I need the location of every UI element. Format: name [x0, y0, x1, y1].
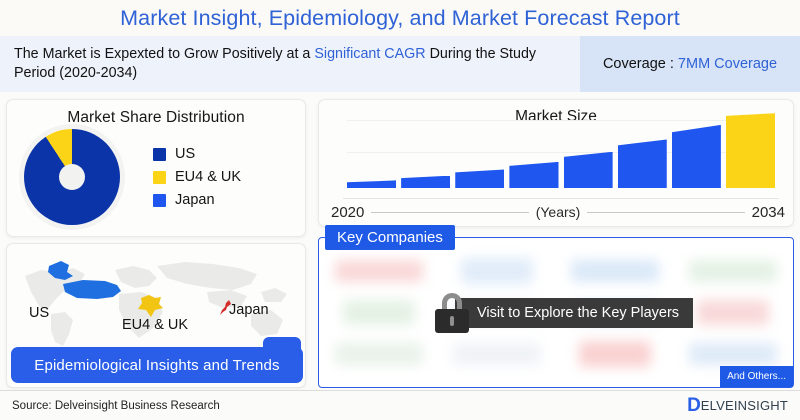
explore-key-players-label: Visit to Explore the Key Players: [477, 305, 679, 321]
company-logo: [335, 343, 423, 365]
market-share-card: Market Share Distribution USEU4 & UKJapa…: [6, 99, 306, 237]
summary-band: The Market is Expexted to Grow Positivel…: [0, 36, 800, 92]
key-companies-card: Key Companies Visit to Explore the Key P…: [318, 237, 794, 388]
legend-label: Japan: [175, 192, 215, 208]
legend-item-us: US: [153, 146, 241, 162]
footer: Source: Delveinsight Business Research D…: [0, 390, 800, 420]
map-region-us: US: [29, 304, 49, 322]
statement-highlight: Significant CAGR: [314, 46, 425, 62]
donut-chart-wrap: [7, 129, 137, 225]
company-logo: [697, 300, 769, 326]
coverage-value: 7MM Coverage: [678, 56, 777, 72]
market-share-title: Market Share Distribution: [7, 109, 305, 127]
market-size-plot: [347, 106, 775, 188]
axis-line-right: [587, 212, 744, 213]
legend-label: US: [175, 146, 195, 162]
market-share-legend: USEU4 & UKJapan: [153, 139, 241, 215]
locked-content-overlay[interactable]: Visit to Explore the Key Players: [435, 293, 693, 333]
bar-shape: [347, 180, 396, 188]
map-region-label-eu: EU4 & UK: [122, 317, 188, 333]
market-size-axis: 2020 (Years) 2034: [331, 202, 785, 222]
donut-chart: [24, 129, 120, 225]
and-others-label: And Others...: [727, 371, 786, 382]
company-logo: [335, 260, 423, 282]
delveinsight-logo: D ELVEINSIGHT: [687, 396, 788, 415]
company-logo: [343, 300, 415, 326]
axis-start-label: 2020: [331, 204, 364, 221]
axis-line-left: [371, 212, 528, 213]
brand-text: ELVEINSIGHT: [701, 398, 788, 413]
epidemiology-map-card: US EU4 & UK Japan Epidemiological Insigh…: [6, 243, 306, 388]
company-logo: [689, 343, 777, 365]
market-size-card: Market Size 2020 (Years) 2034: [318, 99, 794, 227]
bar-shape: [509, 162, 558, 188]
coverage-label: Coverage :: [603, 56, 678, 72]
legend-swatch-icon: [153, 194, 166, 207]
map-region-eu: EU4 & UK: [122, 316, 188, 334]
bar-shape: [564, 152, 613, 188]
bar-series: [347, 106, 775, 188]
axis-end-label: 2034: [752, 204, 785, 221]
legend-item-japan: Japan: [153, 192, 241, 208]
chart-baseline: [343, 198, 779, 200]
company-logo: [689, 260, 777, 282]
page-title: Market Insight, Epidemiology, and Market…: [120, 6, 680, 31]
legend-swatch-icon: [153, 171, 166, 184]
company-logo: [453, 343, 541, 365]
map-region-label-japan: Japan: [229, 302, 269, 318]
source-text: Source: Delveinsight Business Research: [12, 400, 220, 412]
bar-shape: [401, 176, 450, 188]
explore-key-players-tooltip[interactable]: Visit to Explore the Key Players: [455, 298, 693, 328]
us-map-icon: [47, 260, 125, 304]
company-logo: [579, 341, 651, 367]
bar-shape: [672, 125, 721, 188]
epidemiology-insights-button[interactable]: Epidemiological Insights and Trends: [11, 347, 303, 383]
epidemiology-insights-label: Epidemiological Insights and Trends: [34, 357, 279, 374]
legend-label: EU4 & UK: [175, 169, 241, 185]
key-companies-tab-label: Key Companies: [337, 229, 443, 246]
legend-item-eu4-uk: EU4 & UK: [153, 169, 241, 185]
legend-swatch-icon: [153, 148, 166, 161]
axis-center-label: (Years): [536, 204, 581, 220]
brand-letter: D: [687, 396, 701, 415]
bar-shape: [455, 169, 504, 188]
donut-hole: [59, 164, 85, 190]
lock-keyhole: [450, 316, 454, 326]
title-bar: Market Insight, Epidemiology, and Market…: [0, 0, 800, 36]
map-region-japan: Japan: [229, 301, 269, 319]
report-infographic: Market Insight, Epidemiology, and Market…: [0, 0, 800, 420]
bar-shape: [726, 113, 775, 188]
lock-icon: [435, 293, 469, 333]
bar-shape: [618, 139, 667, 188]
coverage-panel: Coverage : 7MM Coverage: [580, 36, 800, 92]
company-logo: [461, 258, 533, 284]
market-statement: The Market is Expexted to Grow Positivel…: [0, 36, 580, 92]
statement-text-pre: The Market is Expexted to Grow Positivel…: [14, 46, 314, 62]
and-others-badge[interactable]: And Others...: [720, 366, 793, 387]
map-region-label-us: US: [29, 305, 49, 321]
key-companies-tab: Key Companies: [325, 225, 455, 250]
company-logo: [571, 260, 659, 282]
